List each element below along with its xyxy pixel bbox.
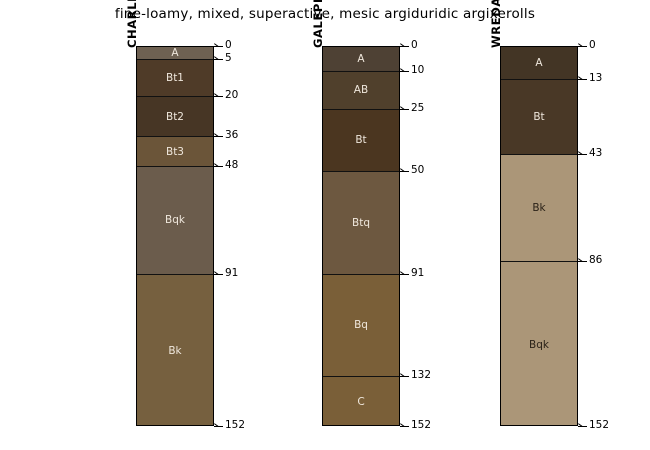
depth-tick-label: 86: [589, 254, 602, 266]
depth-tick-label: 91: [411, 267, 424, 279]
tick-mark: [400, 171, 409, 172]
soil-horizon: Bt3: [137, 137, 213, 167]
soil-horizon: Bt: [323, 110, 399, 173]
tick-mark: [214, 46, 223, 47]
depth-tick-label: 0: [225, 39, 232, 51]
tick-mark: [578, 79, 587, 80]
horizon-label: AB: [323, 84, 399, 96]
tick-mark: [400, 71, 409, 72]
horizon-label: Bqk: [137, 214, 213, 226]
soil-horizon: Bq: [323, 275, 399, 378]
tick-mark: [214, 274, 223, 275]
depth-tick-label: 48: [225, 159, 238, 171]
tick-mark: [214, 96, 223, 97]
depth-tick-label: 13: [589, 72, 602, 84]
horizon-label: Bt3: [137, 146, 213, 158]
depth-tick-label: 152: [225, 419, 245, 431]
depth-tick-label: 10: [411, 64, 424, 76]
depth-tick-label: 50: [411, 164, 424, 176]
depth-tick-label: 25: [411, 102, 424, 114]
soil-horizon: AB: [323, 72, 399, 110]
horizon-label: Bq: [323, 319, 399, 331]
soil-horizon: A: [323, 47, 399, 72]
soil-horizon: Bk: [137, 275, 213, 427]
depth-tick-label: 132: [411, 369, 431, 381]
horizon-label: Bk: [501, 202, 577, 214]
depth-tick-label: 152: [411, 419, 431, 431]
soil-horizon: Btq: [323, 172, 399, 275]
soil-horizon: A: [137, 47, 213, 60]
horizon-label: Bt2: [137, 111, 213, 123]
tick-mark: [400, 109, 409, 110]
soil-horizon: Bt2: [137, 97, 213, 137]
tick-mark: [578, 46, 587, 47]
profile-name-label: WREDAH: [489, 0, 503, 48]
tick-mark: [214, 426, 223, 427]
chart-title: fine-loamy, mixed, superactive, mesic ar…: [0, 6, 650, 22]
horizon-label: Btq: [323, 217, 399, 229]
horizon-label: A: [501, 57, 577, 69]
soil-horizon: A: [501, 47, 577, 80]
tick-mark: [578, 426, 587, 427]
soil-horizon: C: [323, 377, 399, 426]
horizon-label: Bt: [501, 111, 577, 123]
tick-mark: [400, 46, 409, 47]
depth-tick-label: 91: [225, 267, 238, 279]
tick-mark: [214, 136, 223, 137]
soil-horizon: Bqk: [501, 262, 577, 426]
tick-mark: [578, 154, 587, 155]
depth-tick-label: 0: [411, 39, 418, 51]
tick-mark: [578, 261, 587, 262]
soil-horizon: Bk: [501, 155, 577, 263]
depth-tick-label: 152: [589, 419, 609, 431]
profile-name-label: GALEPPI: [311, 0, 325, 48]
tick-mark: [400, 426, 409, 427]
depth-tick-label: 20: [225, 89, 238, 101]
horizon-label: A: [323, 53, 399, 65]
soil-profile-figure: fine-loamy, mixed, superactive, mesic ar…: [0, 0, 650, 450]
tick-mark: [400, 274, 409, 275]
depth-tick-label: 5: [225, 52, 232, 64]
depth-tick-label: 43: [589, 147, 602, 159]
profile-column: ABt1Bt2Bt3BqkBk: [136, 46, 214, 426]
tick-mark: [214, 59, 223, 60]
soil-horizon: Bt1: [137, 60, 213, 98]
profile-name-label: CHARLEBOIS: [125, 0, 139, 48]
horizon-label: A: [137, 47, 213, 59]
horizon-label: Bt: [323, 134, 399, 146]
depth-tick-label: 0: [589, 39, 596, 51]
soil-horizon: Bt: [501, 80, 577, 155]
profile-column: AABBtBtqBqC: [322, 46, 400, 426]
tick-mark: [400, 376, 409, 377]
depth-tick-label: 36: [225, 129, 238, 141]
horizon-label: C: [323, 396, 399, 408]
horizon-label: Bt1: [137, 72, 213, 84]
tick-mark: [214, 166, 223, 167]
horizon-label: Bqk: [501, 339, 577, 351]
horizon-label: Bk: [137, 345, 213, 357]
soil-horizon: Bqk: [137, 167, 213, 275]
profile-column: ABtBkBqk: [500, 46, 578, 426]
